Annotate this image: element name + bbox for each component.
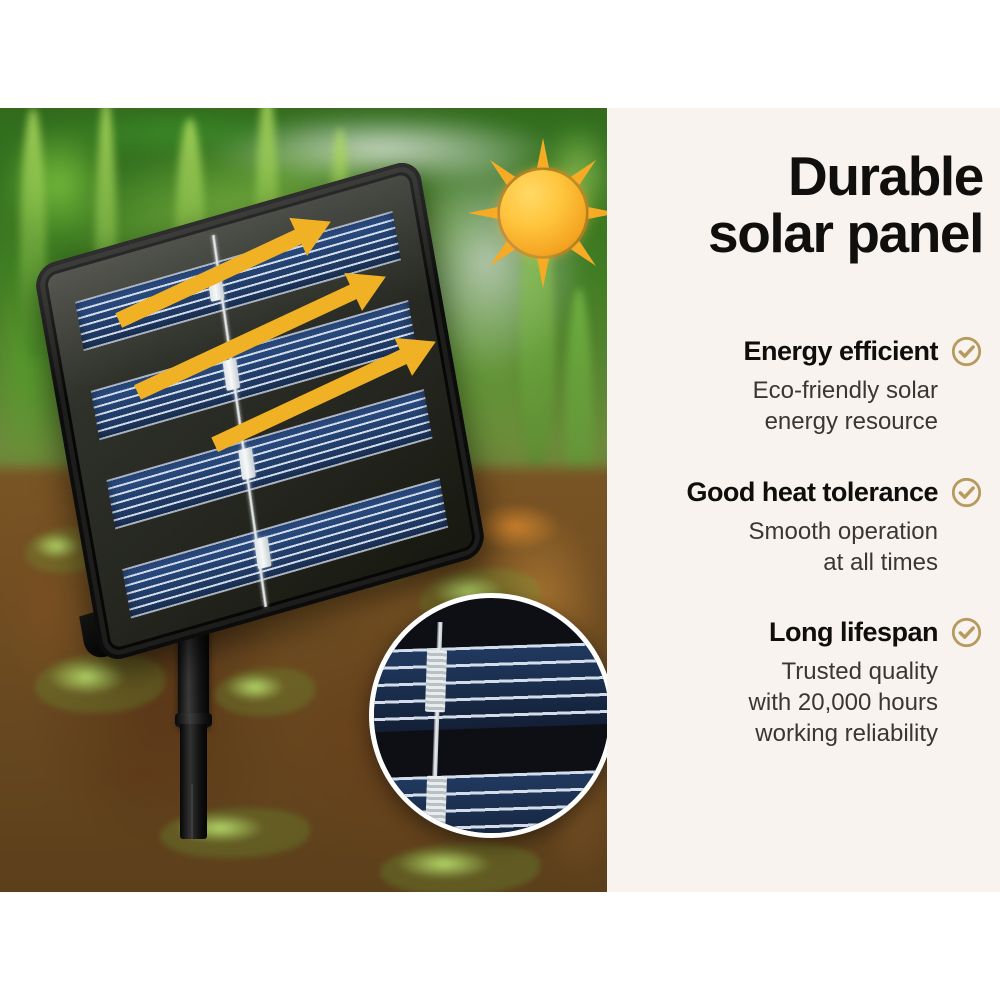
title-line-2: solar panel (617, 205, 983, 262)
page-title: Durable solar panel (617, 148, 983, 261)
feature-description-line: Trusted quality (617, 656, 938, 687)
check-circle-icon (950, 476, 983, 509)
feature-heading-row: Energy efficient (617, 335, 983, 368)
feature-description-line: Smooth operation (617, 516, 938, 547)
feature-description-line: energy resource (617, 406, 938, 437)
product-feature-image: Durable solar panel Energy efficient Eco… (0, 0, 1000, 1000)
zoom-cell-strip (369, 769, 607, 838)
feature-heading: Energy efficient (743, 336, 938, 367)
zoom-solder-pad (425, 650, 447, 713)
feature-item-long-lifespan: Long lifespan Trusted quality with 20,00… (617, 616, 983, 750)
magnified-solar-cell-detail (369, 593, 607, 838)
zoom-cell-strip (369, 641, 607, 733)
feature-description: Eco-friendly solar energy resource (617, 375, 983, 437)
content-band: Durable solar panel Energy efficient Eco… (0, 108, 1000, 892)
feature-item-energy-efficient: Energy efficient Eco-friendly solar ener… (617, 335, 983, 437)
feature-heading-row: Long lifespan (617, 616, 983, 649)
title-line-1: Durable (788, 145, 983, 207)
info-panel: Durable solar panel Energy efficient Eco… (607, 108, 1000, 892)
product-photo (0, 108, 607, 892)
check-circle-icon (950, 616, 983, 649)
panel-housing (33, 158, 487, 664)
feature-description-line: at all times (617, 547, 938, 578)
sun-icon (468, 138, 607, 288)
feature-description-line: Eco-friendly solar (617, 375, 938, 406)
feature-description: Trusted quality with 20,000 hours workin… (617, 656, 983, 750)
feature-list: Energy efficient Eco-friendly solar ener… (617, 335, 983, 749)
feature-description-line: working reliability (617, 718, 938, 749)
zoom-solder-pad (425, 776, 447, 838)
ground-stake-lower (180, 724, 207, 839)
feature-description: Smooth operation at all times (617, 516, 983, 578)
feature-item-good-heat-tolerance: Good heat tolerance Smooth operation at … (617, 476, 983, 578)
feature-heading: Good heat tolerance (686, 477, 938, 508)
feature-heading: Long lifespan (769, 617, 938, 648)
feature-heading-row: Good heat tolerance (617, 476, 983, 509)
check-circle-icon (950, 335, 983, 368)
feature-description-line: with 20,000 hours (617, 687, 938, 718)
